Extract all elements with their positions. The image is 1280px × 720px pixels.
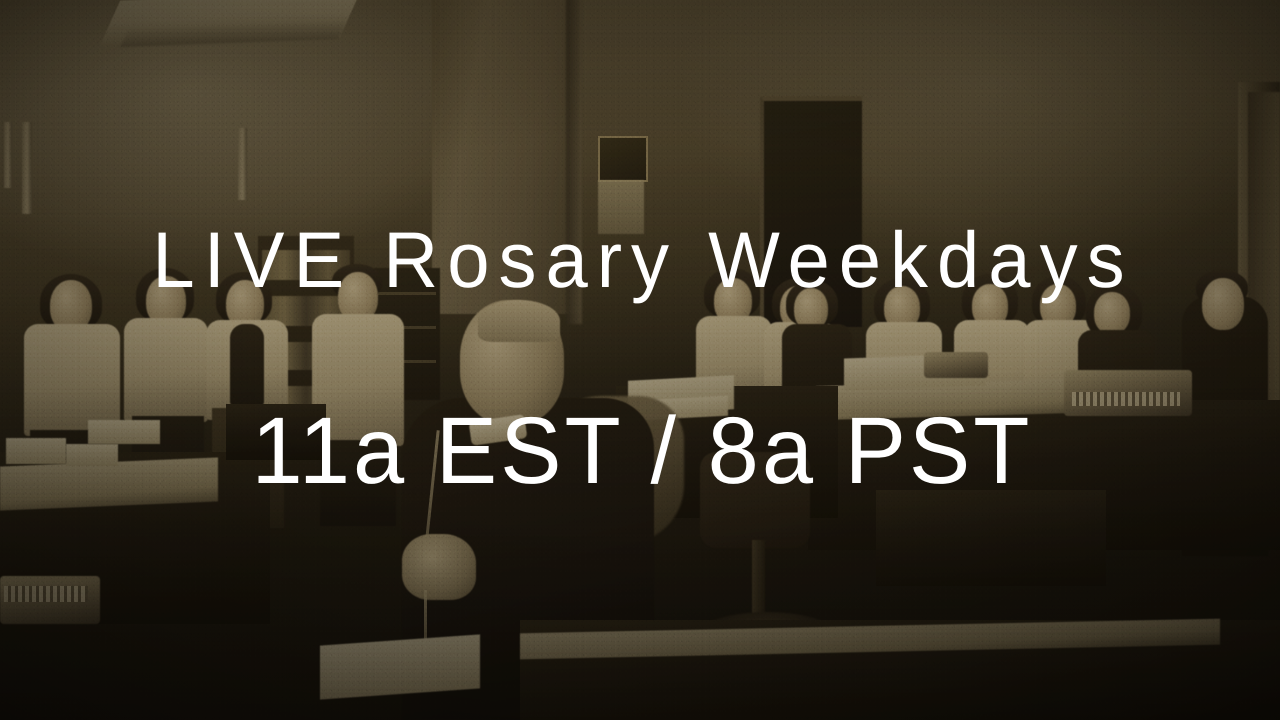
wall-poster-strip [598, 180, 644, 234]
structural-column [432, 0, 580, 314]
wire-paper-tray [876, 490, 1106, 586]
small-desk [226, 404, 326, 460]
desk-equipment [924, 352, 988, 378]
wall-pipe [22, 122, 32, 214]
praying-hands [402, 534, 476, 600]
video-title-card: LIVE Rosary Weekdays 11a EST / 8a PST [0, 0, 1280, 720]
back-wall-light-right [640, 0, 1280, 300]
wall-pipe [4, 122, 12, 188]
back-wall-light-left [0, 0, 470, 300]
background-photograph [0, 0, 1280, 720]
cabinet-drawer-line [378, 292, 436, 295]
wall-framed-picture [598, 136, 648, 182]
zucchetto-icon [478, 300, 560, 342]
papers [66, 444, 118, 466]
office-chair-post [752, 540, 765, 622]
wall-pipe [238, 128, 247, 200]
column-edge-shadow [566, 0, 582, 324]
papers [6, 438, 66, 464]
machine-keys [1072, 392, 1180, 406]
foreground-papers [320, 634, 480, 699]
typewriter-keys [4, 586, 88, 602]
papers [88, 420, 160, 444]
office-chair-back [700, 452, 810, 548]
